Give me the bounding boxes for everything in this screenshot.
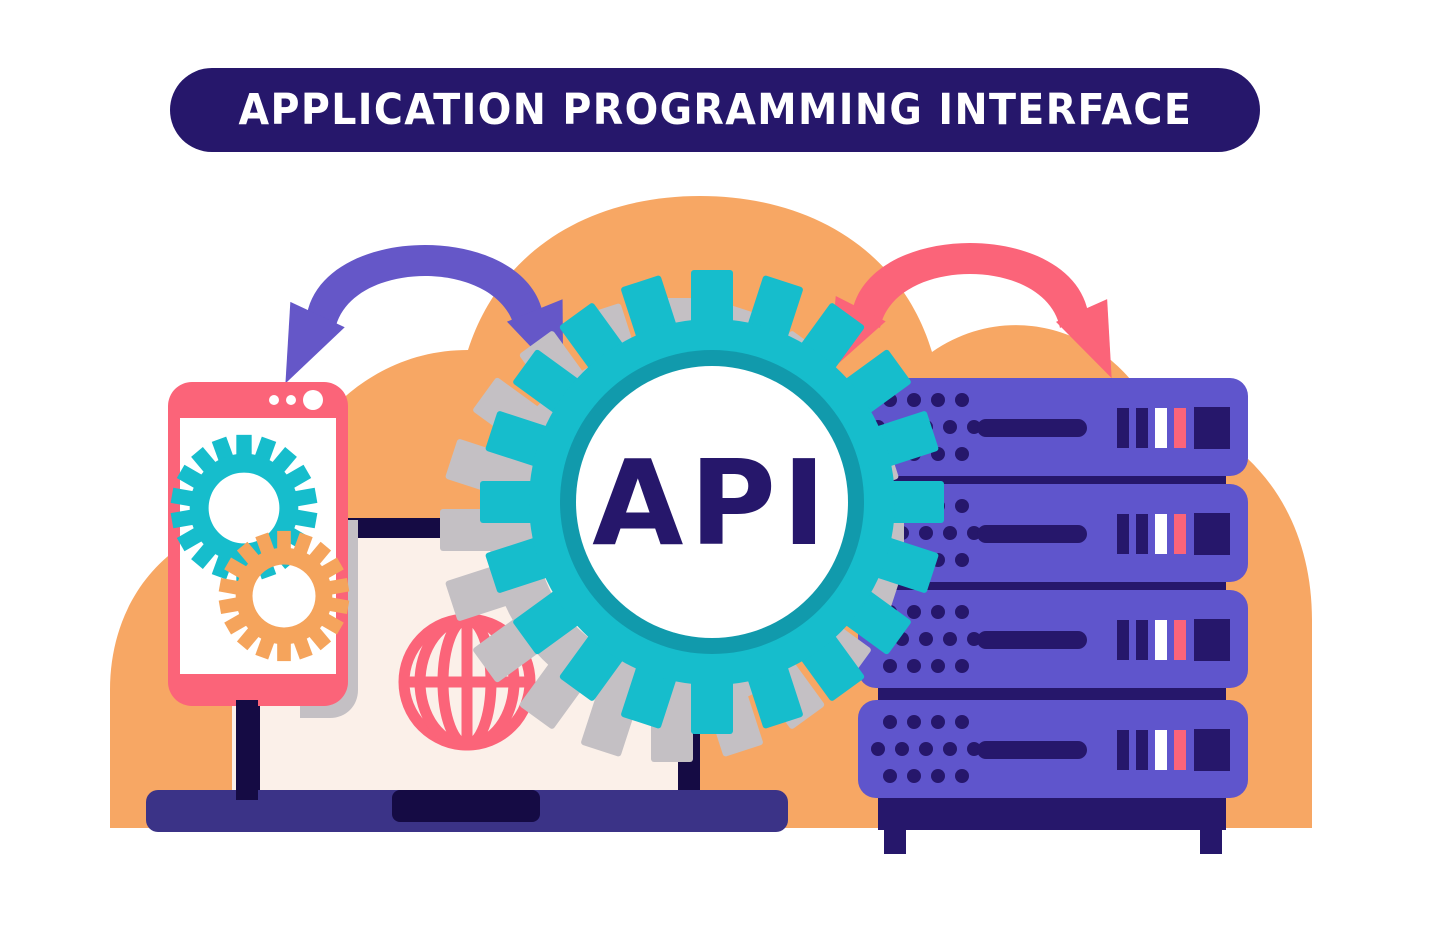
- server-drive-square: [1194, 407, 1230, 449]
- title-banner-pill: APPLICATION PROGRAMMING INTERFACE: [170, 68, 1260, 152]
- api-gear-label: API: [592, 434, 832, 572]
- server-rack-leg-right: [1200, 810, 1222, 854]
- laptop-trackpad: [392, 790, 540, 822]
- title-banner: APPLICATION PROGRAMMING INTERFACE: [170, 68, 1260, 152]
- server-slot-bar: [977, 419, 1087, 437]
- server-slot-bar: [977, 631, 1087, 649]
- server-slot-bar: [977, 741, 1087, 759]
- phone-dot-small-1: [269, 395, 279, 405]
- phone-stand: [236, 700, 258, 800]
- server-rack-leg-left: [884, 810, 906, 854]
- illustration-canvas: API: [0, 0, 1429, 952]
- server-slot-bar: [977, 525, 1087, 543]
- server-unit: [858, 590, 1248, 688]
- server-unit: [858, 700, 1248, 798]
- phone-camera-dot: [303, 390, 323, 410]
- page-title: APPLICATION PROGRAMMING INTERFACE: [238, 89, 1192, 132]
- server-drive-square: [1194, 729, 1230, 771]
- server-drive-square: [1194, 513, 1230, 555]
- phone-dot-small-2: [286, 395, 296, 405]
- server-drive-square: [1194, 619, 1230, 661]
